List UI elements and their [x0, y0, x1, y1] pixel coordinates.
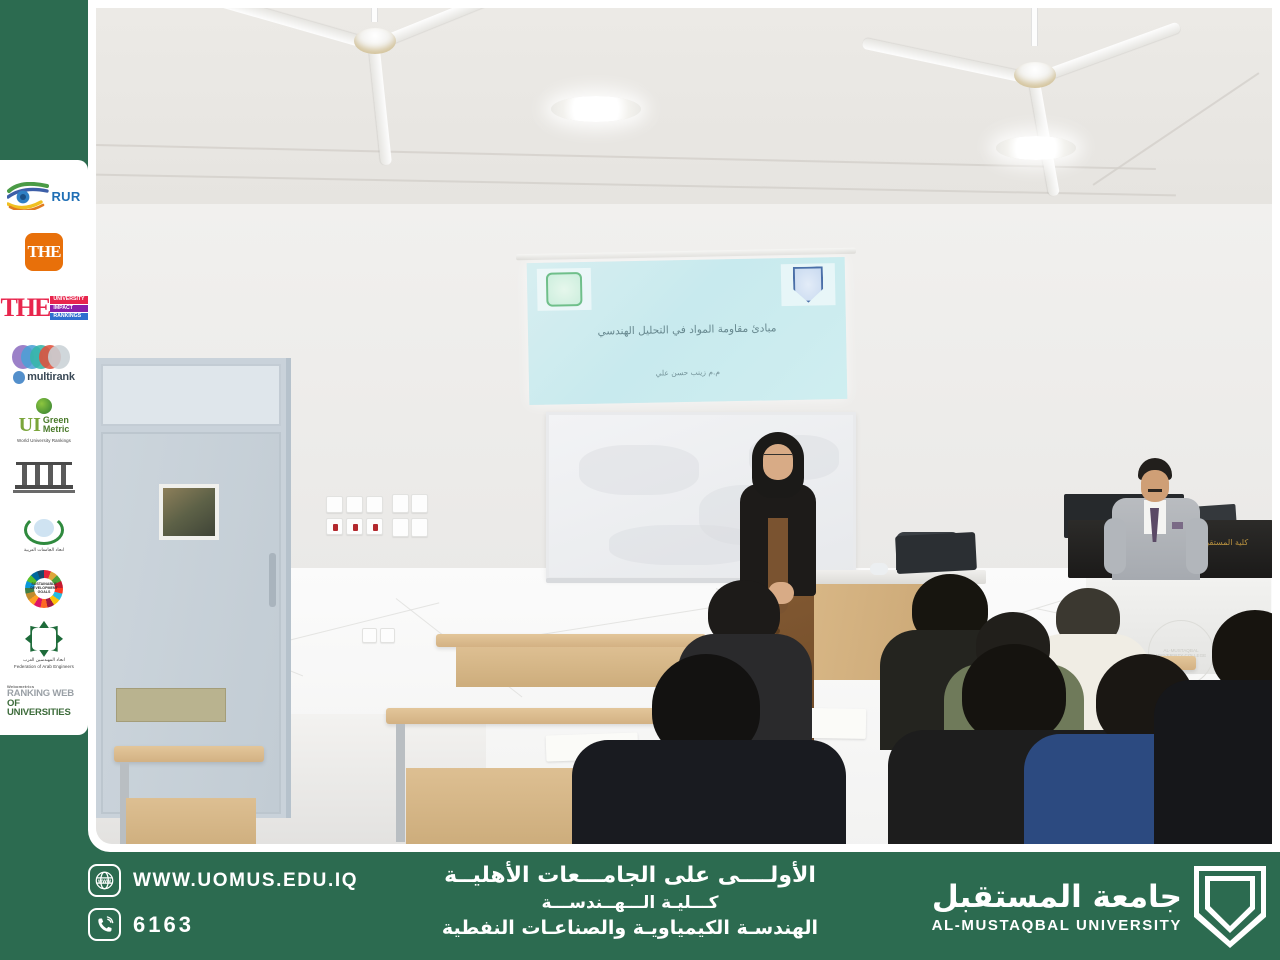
- light-switch-4[interactable]: [326, 518, 343, 535]
- door-handle[interactable]: [269, 553, 276, 607]
- the-impact-label: THE: [0, 291, 49, 325]
- brand-name-english: AL-MUSTAQBAL UNIVERSITY: [932, 917, 1182, 934]
- slide-title: مبادئ مقاومة المواد في التحليل الهندسي: [544, 319, 830, 341]
- desk-mouse: [870, 563, 888, 575]
- left-green-rail: RUR THE THE UNIVERSITY IMPACT RANKINGS: [0, 0, 88, 960]
- federation-caption-english: Federation of Arab Engineers: [14, 664, 74, 669]
- footer-tagline: الأولــــى على الجامـــعات الأهليــة: [400, 862, 860, 891]
- footer-brand-block: جامعة المستقبل AL-MUSTAQBAL UNIVERSITY: [932, 866, 1266, 948]
- university-crest-icon: [793, 266, 824, 303]
- greenmetric-title-2: Metric: [43, 425, 70, 434]
- globe-www-icon: www: [88, 864, 121, 897]
- photo-white-frame: مبادئ مقاومة المواد في التحليل الهندسي م…: [88, 0, 1280, 852]
- door-kick-plate: [116, 688, 226, 722]
- power-socket-1[interactable]: [392, 494, 409, 513]
- light-switch-1[interactable]: [326, 496, 343, 513]
- svg-text:www: www: [97, 878, 112, 884]
- desk-monitor: [895, 532, 977, 574]
- rankings-badge-panel: RUR THE THE UNIVERSITY IMPACT RANKINGS: [0, 160, 88, 735]
- badge-rur: RUR: [6, 168, 82, 224]
- badge-sdg-wheel: SUSTAINABLE DEVELOPMENT GOALS: [6, 561, 82, 617]
- student-desk-1-panel: [126, 798, 256, 844]
- rur-eye-icon: [7, 182, 49, 210]
- light-switch-3[interactable]: [366, 496, 383, 513]
- badge-webometrics: Webometrics RANKING WEB OF UNIVERSITIES: [6, 673, 82, 729]
- university-shield-crest-icon: [1194, 866, 1266, 948]
- badge-u-multirank: multirank: [6, 336, 82, 392]
- arab-universities-caption: اتحاد الجامعات العربية: [24, 548, 64, 553]
- brand-name-arabic: جامعة المستقبل: [932, 880, 1182, 916]
- light-switch-6[interactable]: [366, 518, 383, 535]
- greenmetric-ui-label: UI: [19, 414, 41, 437]
- greenmetric-globe-icon: [36, 398, 52, 414]
- slide-logo-right: [781, 263, 836, 306]
- footer-phone-row[interactable]: 6163: [88, 908, 388, 941]
- the-impact-bar-university: UNIVERSITY: [50, 296, 87, 303]
- footer-department-block: الأولــــى على الجامـــعات الأهليــة كــ…: [400, 862, 860, 942]
- badge-federation-arab-engineers: اتحاد المهندسين العرب Federation of Arab…: [6, 617, 82, 673]
- student-desk-3-panel: [456, 647, 686, 687]
- webometrics-line-2: OF UNIVERSITIES: [7, 699, 81, 718]
- student-desk-2: [386, 708, 676, 724]
- badge-the-impact-rankings: THE UNIVERSITY IMPACT RANKINGS: [6, 280, 82, 336]
- the-impact-bar-impact: IMPACT: [50, 305, 87, 312]
- wall-socket-low-2[interactable]: [380, 628, 395, 643]
- student-desk-1: [114, 746, 264, 762]
- phone-ring-icon: [88, 908, 121, 941]
- the-impact-bar-rankings: RANKINGS: [50, 313, 87, 320]
- door-poster: [159, 484, 219, 540]
- power-socket-4[interactable]: [411, 518, 428, 537]
- the-label: THE: [25, 233, 63, 271]
- footer-website-row[interactable]: www WWW.UOMUS.EDU.IQ: [88, 864, 388, 897]
- wall-socket-low-1[interactable]: [362, 628, 377, 643]
- student-desk-2-leg: [396, 724, 405, 842]
- badge-association-arab-universities: اتحاد الجامعات العربية: [6, 505, 82, 561]
- ceiling-light-1: [551, 96, 641, 122]
- sdg-hub-label: SUSTAINABLE DEVELOPMENT GOALS: [34, 578, 55, 599]
- footer-bar: www WWW.UOMUS.EDU.IQ 6163 الأولــــى على…: [0, 852, 1280, 960]
- student-desk-3: [436, 634, 706, 647]
- multirank-rings-icon: [12, 345, 76, 371]
- power-socket-3[interactable]: [392, 518, 409, 537]
- pillars-temple-icon: [16, 460, 72, 494]
- door-transom-window: [101, 364, 281, 426]
- federation-caption-arabic: اتحاد المهندسين العرب: [23, 658, 65, 663]
- light-switch-2[interactable]: [346, 496, 363, 513]
- badge-pillars: [6, 449, 82, 505]
- classroom-lecture-photo: مبادئ مقاومة المواد في التحليل الهندسي م…: [96, 8, 1272, 844]
- footer-college: كـــليـة الـــهــندســـة: [400, 891, 860, 916]
- slide-logo-left: [537, 268, 592, 311]
- light-switch-5[interactable]: [346, 518, 363, 535]
- greenmetric-caption: World University Rankings: [17, 438, 71, 443]
- badge-the: THE: [6, 224, 82, 280]
- footer-phone-label: 6163: [133, 912, 194, 938]
- ministry-crest-icon: [546, 272, 583, 307]
- ceiling-light-2: [996, 136, 1076, 160]
- federation-arab-engineers-icon: [25, 621, 63, 657]
- badge-ui-greenmetric: UI Green Metric World University Ranking…: [6, 392, 82, 448]
- arab-universities-wreath-icon: [21, 513, 67, 547]
- multirank-label: multirank: [27, 371, 75, 383]
- slide-presenter: م.م زينب حسن علي: [545, 365, 831, 379]
- power-socket-2[interactable]: [411, 494, 428, 513]
- rur-label: RUR: [51, 189, 80, 204]
- footer-department: الهندسـة الكيمياويـة والصناعـات النفطية: [400, 915, 860, 942]
- footer-contact-block: www WWW.UOMUS.EDU.IQ 6163: [88, 864, 388, 952]
- projection-screen: مبادئ مقاومة المواد في التحليل الهندسي م…: [527, 257, 848, 405]
- footer-website-label: WWW.UOMUS.EDU.IQ: [133, 870, 358, 892]
- sdg-wheel-icon: SUSTAINABLE DEVELOPMENT GOALS: [25, 570, 63, 608]
- university-event-card: RUR THE THE UNIVERSITY IMPACT RANKINGS: [0, 0, 1280, 960]
- man-at-podium: [1106, 458, 1202, 578]
